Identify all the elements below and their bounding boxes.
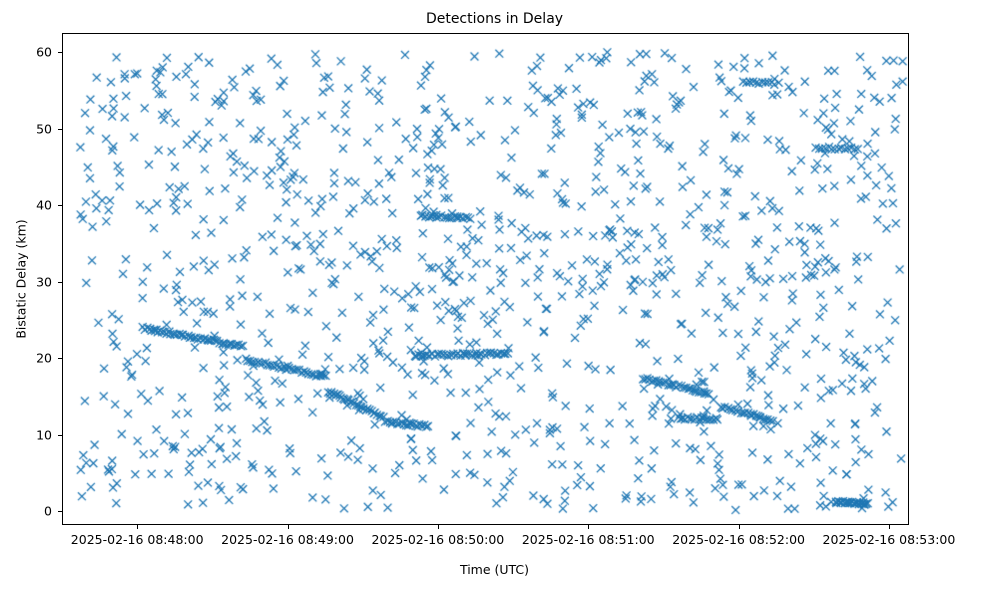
y-tick-label: 20 xyxy=(36,351,52,366)
chart-title: Detections in Delay xyxy=(0,10,989,28)
x-tick-label: 2025-02-16 08:53:00 xyxy=(823,532,956,547)
x-tick-label: 2025-02-16 08:48:00 xyxy=(71,532,204,547)
x-tick-label: 2025-02-16 08:49:00 xyxy=(221,532,354,547)
x-tick-mark xyxy=(137,525,138,529)
x-axis-tick-labels: 2025-02-16 08:48:002025-02-16 08:49:0020… xyxy=(0,532,989,552)
matplotlib-figure: Detections in Delay 0102030405060 2025-0… xyxy=(0,0,989,590)
y-tick-label: 30 xyxy=(36,274,52,289)
y-tick-label: 10 xyxy=(36,427,52,442)
y-tick-mark xyxy=(58,358,62,359)
x-axis-label: Time (UTC) xyxy=(0,562,989,577)
x-tick-mark xyxy=(739,525,740,529)
x-tick-mark xyxy=(438,525,439,529)
x-tick-label: 2025-02-16 08:52:00 xyxy=(672,532,805,547)
x-tick-label: 2025-02-16 08:51:00 xyxy=(522,532,655,547)
y-axis-label-text: Bistatic Delay (km) xyxy=(14,33,29,525)
y-tick-mark xyxy=(58,435,62,436)
y-tick-label: 50 xyxy=(36,121,52,136)
x-tick-label: 2025-02-16 08:50:00 xyxy=(371,532,504,547)
x-tick-mark xyxy=(889,525,890,529)
y-tick-mark xyxy=(58,205,62,206)
y-tick-label: 40 xyxy=(36,198,52,213)
y-tick-mark xyxy=(58,511,62,512)
y-axis-label: Bistatic Delay (km) xyxy=(14,33,28,525)
y-tick-mark xyxy=(58,282,62,283)
y-tick-mark xyxy=(58,129,62,130)
y-tick-label: 60 xyxy=(36,45,52,60)
plot-axes xyxy=(62,33,909,525)
x-tick-mark xyxy=(588,525,589,529)
scatter-plot-canvas xyxy=(63,34,908,524)
x-tick-mark xyxy=(288,525,289,529)
y-tick-mark xyxy=(58,52,62,53)
y-tick-label: 0 xyxy=(44,504,52,519)
